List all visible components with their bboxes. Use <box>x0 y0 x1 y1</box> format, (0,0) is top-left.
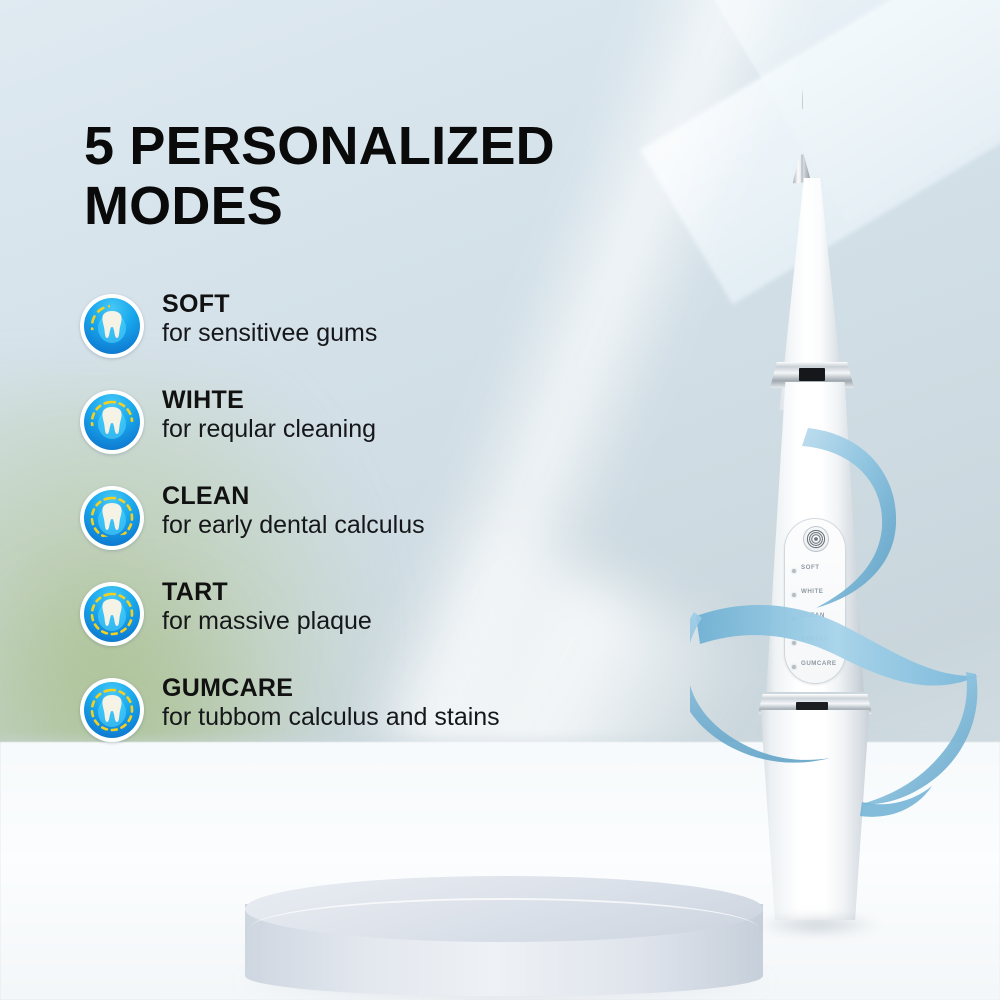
device-mode-row[interactable]: TARTAR <box>784 632 846 656</box>
device-mode-label: CLEAN <box>801 612 825 619</box>
tooth-icon <box>84 490 140 546</box>
list-item: SOFT for sensitivee gums <box>80 290 600 386</box>
tooth-icon-badge <box>80 486 144 550</box>
page-title: 5 PERSONALIZED MODES <box>84 116 644 236</box>
tooth-icon <box>84 394 140 450</box>
podium <box>245 876 763 1000</box>
feature-title: CLEAN <box>162 482 598 510</box>
product-promo-image: 5 PERSONALIZED MODES SOFT <box>0 0 1000 1000</box>
feature-title: WIHTE <box>162 386 598 414</box>
tooth-icon-badge <box>80 294 144 358</box>
device-control-panel: SOFT WHITE CLEAN TARTAR GUMCARE <box>784 518 846 684</box>
feature-subtitle: for reqular cleaning <box>162 414 598 445</box>
mode-led-indicator <box>792 617 796 621</box>
feature-text: WIHTE for reqular cleaning <box>162 386 598 445</box>
device-mode-row[interactable]: WHITE <box>784 584 846 608</box>
tooth-icon-badge <box>80 390 144 454</box>
product-device: SOFT WHITE CLEAN TARTAR GUMCARE <box>700 30 940 960</box>
tooth-icon-badge <box>80 582 144 646</box>
feature-list: SOFT for sensitivee gums <box>80 290 600 674</box>
device-mode-indicator-list: SOFT WHITE CLEAN TARTAR GUMCARE <box>784 560 846 680</box>
mode-led-indicator <box>792 665 796 669</box>
device-mode-row[interactable]: GUMCARE <box>784 656 846 680</box>
feature-text: GUMCARE for tubbom calculus and stains <box>162 674 598 733</box>
device-mode-row[interactable]: SOFT <box>784 560 846 584</box>
podium-rim-highlight <box>249 898 759 960</box>
device-shadow <box>756 914 880 936</box>
power-button[interactable] <box>803 526 829 552</box>
device-mode-label: GUMCARE <box>801 660 836 667</box>
device-lower-body <box>756 710 874 920</box>
tooth-icon <box>84 298 140 354</box>
mode-led-indicator <box>792 641 796 645</box>
device-mode-row[interactable]: CLEAN <box>784 608 846 632</box>
mode-led-indicator <box>792 593 796 597</box>
tooth-icon <box>84 682 140 738</box>
list-item: TART for massive plaque <box>80 578 600 674</box>
feature-subtitle: for sensitivee gums <box>162 318 598 349</box>
ripple-icon <box>806 529 826 549</box>
tooth-icon <box>84 586 140 642</box>
page-title-line-2: MODES <box>84 176 644 236</box>
device-mode-label: SOFT <box>801 564 820 571</box>
list-item: CLEAN for early dental calculus <box>80 482 600 578</box>
feature-subtitle: for tubbom calculus and stains <box>162 702 598 733</box>
feature-title: GUMCARE <box>162 674 598 702</box>
feature-title: TART <box>162 578 598 606</box>
feature-text: CLEAN for early dental calculus <box>162 482 598 541</box>
mode-led-indicator <box>792 569 796 573</box>
feature-text: SOFT for sensitivee gums <box>162 290 598 349</box>
feature-title: SOFT <box>162 290 598 318</box>
feature-text: TART for massive plaque <box>162 578 598 637</box>
tooth-icon-badge <box>80 678 144 742</box>
page-title-line-1: 5 PERSONALIZED <box>84 116 644 176</box>
device-chrome-ring-upper-inset <box>799 368 825 381</box>
feature-subtitle: for massive plaque <box>162 606 598 637</box>
device-chrome-ring-lower-inset <box>796 702 828 710</box>
device-mode-label: TARTAR <box>801 636 829 643</box>
device-mode-label: WHITE <box>801 588 823 595</box>
list-item: WIHTE for reqular cleaning <box>80 386 600 482</box>
feature-subtitle: for early dental calculus <box>162 510 598 541</box>
